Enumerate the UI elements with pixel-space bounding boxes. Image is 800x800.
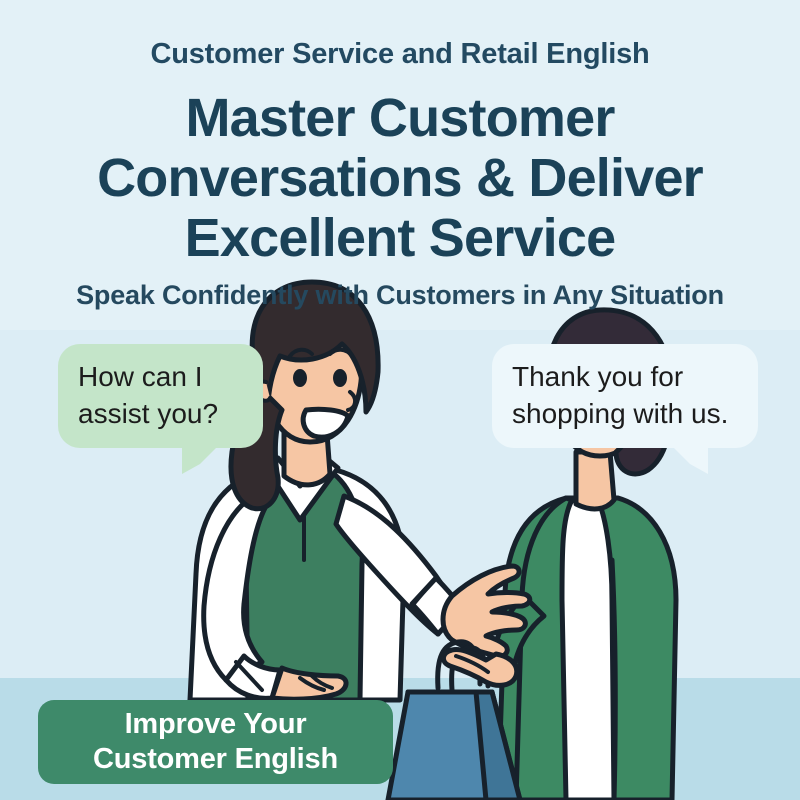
customer-hand <box>443 649 516 685</box>
speech-bubble-customer: Thank you for shopping with us. <box>492 344 758 448</box>
cta-button[interactable]: Improve Your Customer English <box>38 700 393 784</box>
speech-bubble-customer-text: Thank you for shopping with us. <box>512 358 738 432</box>
speech-bubble-associate-text: How can I assist you? <box>78 358 243 432</box>
poster-canvas: Customer Service and Retail English Mast… <box>0 0 800 800</box>
speech-tail-icon <box>668 442 708 474</box>
eyebrow-text: Customer Service and Retail English <box>0 38 800 71</box>
speech-tail-icon <box>182 442 222 474</box>
subtitle-text: Speak Confidently with Customers in Any … <box>20 280 780 311</box>
cta-button-label: Improve Your Customer English <box>56 707 375 777</box>
page-title: Master Customer Conversations & Deliver … <box>40 88 760 268</box>
speech-bubble-associate: How can I assist you? <box>58 344 263 448</box>
